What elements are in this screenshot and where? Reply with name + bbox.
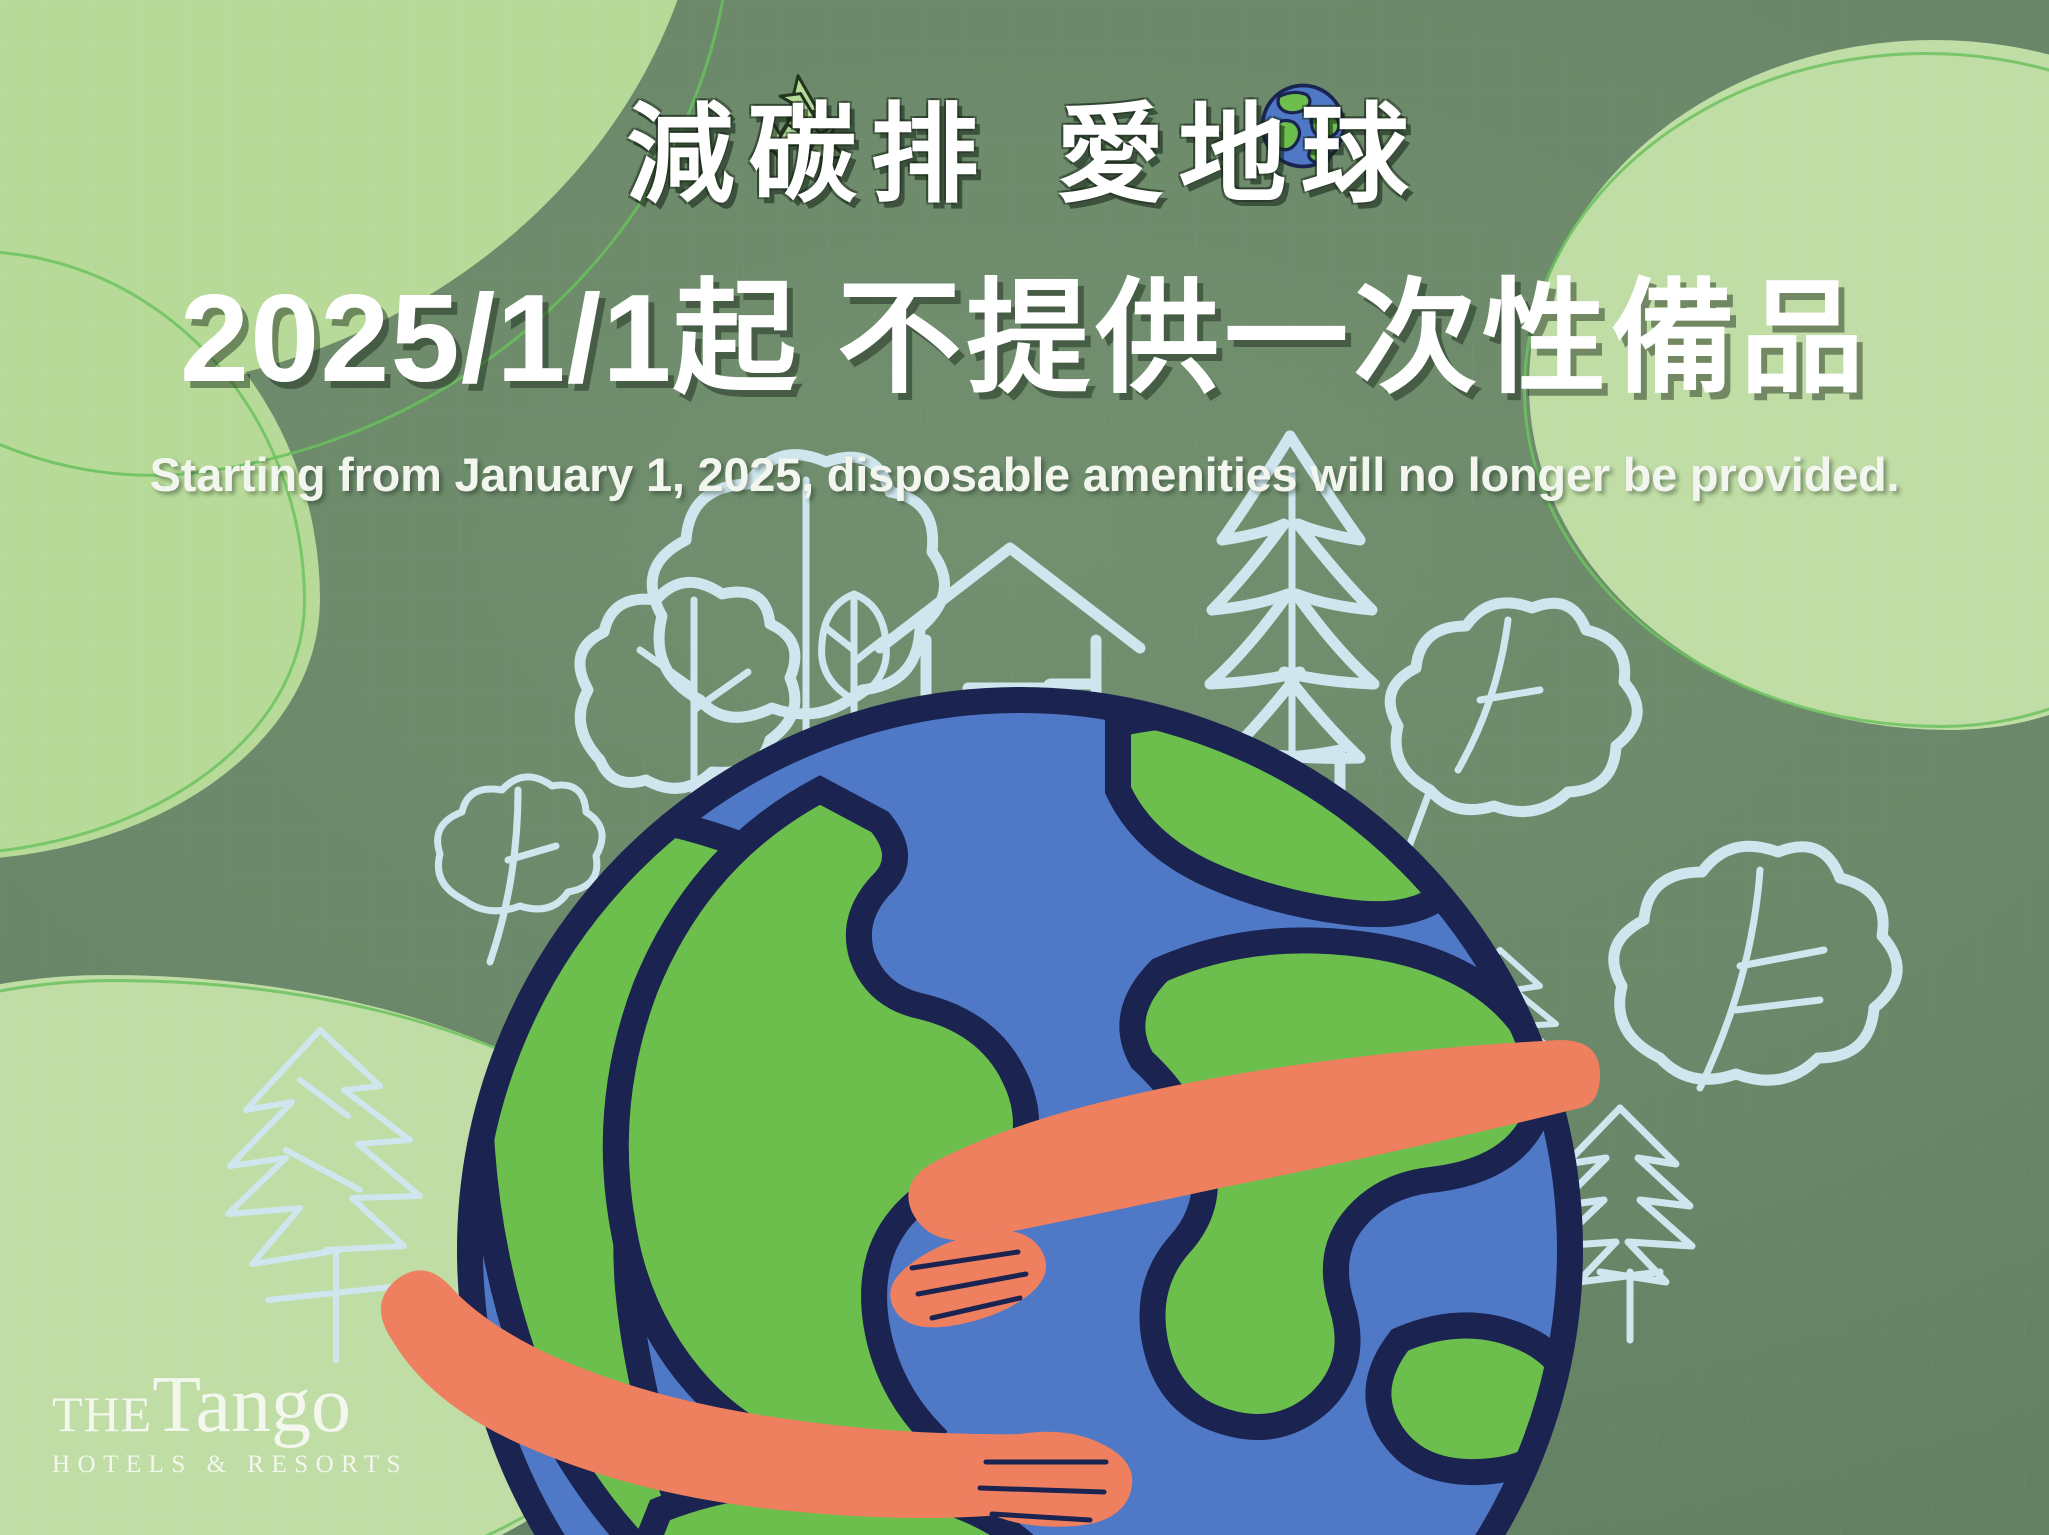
headline-char-pai: 排 <box>870 96 992 215</box>
headline-policy: 不提供一次性備品 <box>837 270 1869 408</box>
headline-char-tan-text: 碳 <box>748 94 870 215</box>
oak-tree-far-right-icon <box>1614 846 1897 1088</box>
headline-char-ai: 愛 <box>1057 96 1179 215</box>
brand-logo: THETango HOTELS & RESORTS <box>52 1365 408 1479</box>
headline-qi: 起 <box>673 270 802 408</box>
headline-block: 減 碳排愛地 球 <box>0 96 2049 502</box>
headline-char-qiu: 球 <box>1301 96 1423 215</box>
broccoli-tree-right-icon <box>1390 603 1637 898</box>
headline-line-2: 2025/1/1起 不提供一次性備品 <box>0 237 2049 417</box>
poster-canvas: .la{fill:none;stroke:#cfe6ef;stroke-widt… <box>0 0 2049 1535</box>
headline-char-di: 地 <box>1179 96 1301 215</box>
headline-char-jian: 減 <box>626 96 748 215</box>
logo-tango: Tango <box>152 1361 351 1449</box>
headline-char-tan: 碳 <box>748 96 870 215</box>
headline-subtitle-english: Starting from January 1, 2025, disposabl… <box>0 447 2049 502</box>
headline-char-qiu-text: 球 <box>1301 94 1423 215</box>
headline-date: 2025/1/1 <box>180 270 673 408</box>
logo-wordmark: THETango <box>52 1365 408 1445</box>
logo-the: THE <box>52 1386 152 1442</box>
headline-line-1: 減 碳排愛地 球 <box>626 96 1422 215</box>
logo-tagline: HOTELS & RESORTS <box>52 1451 408 1479</box>
